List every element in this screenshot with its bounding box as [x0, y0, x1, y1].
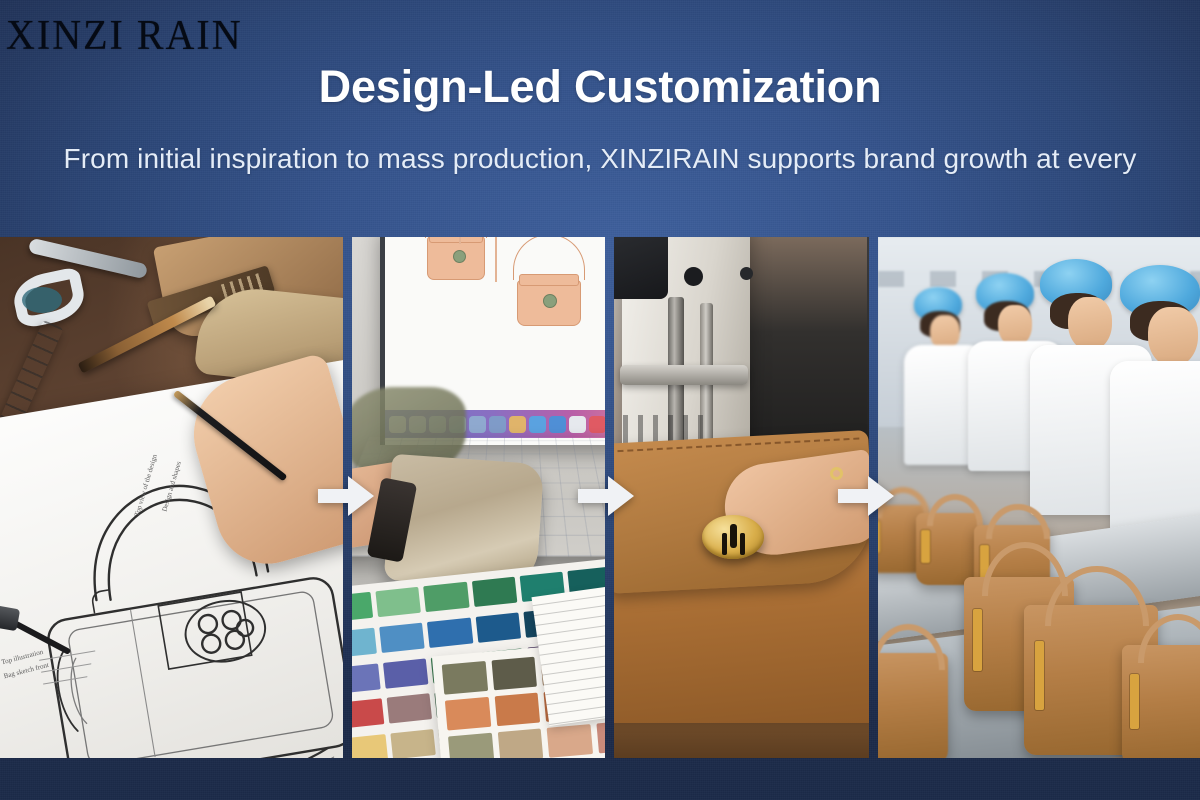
- leather-handbag: [878, 653, 948, 758]
- slide-canvas: XINZI RAIN Design-Led Customization From…: [0, 0, 1200, 800]
- gallery-panel-sketch[interactable]: Top illustration Bag sketch front Top vi…: [0, 237, 343, 758]
- sample-making-photo: [614, 237, 869, 758]
- page-subtitle: From initial inspiration to mass product…: [0, 143, 1200, 175]
- leather-handbag: [916, 513, 982, 585]
- material-selection-photo: [352, 237, 605, 758]
- punch-pliers-icon: [6, 247, 146, 331]
- brass-turnlock-hardware: [702, 515, 764, 559]
- leather-handbag: [1122, 645, 1200, 758]
- brand-logo: XINZI RAIN: [6, 14, 243, 56]
- sketch-photo: Top illustration Bag sketch front Top vi…: [0, 237, 343, 758]
- arrow-right-icon: [838, 472, 894, 520]
- page-title: Design-Led Customization: [0, 61, 1200, 113]
- gallery-panel-mass-production[interactable]: [878, 237, 1200, 758]
- mass-production-photo: [878, 237, 1200, 758]
- gallery-panel-sample-making[interactable]: [614, 237, 869, 758]
- arrow-right-icon: [578, 472, 634, 520]
- arrow-right-icon: [318, 472, 374, 520]
- gallery-panel-material-selection[interactable]: [352, 237, 605, 758]
